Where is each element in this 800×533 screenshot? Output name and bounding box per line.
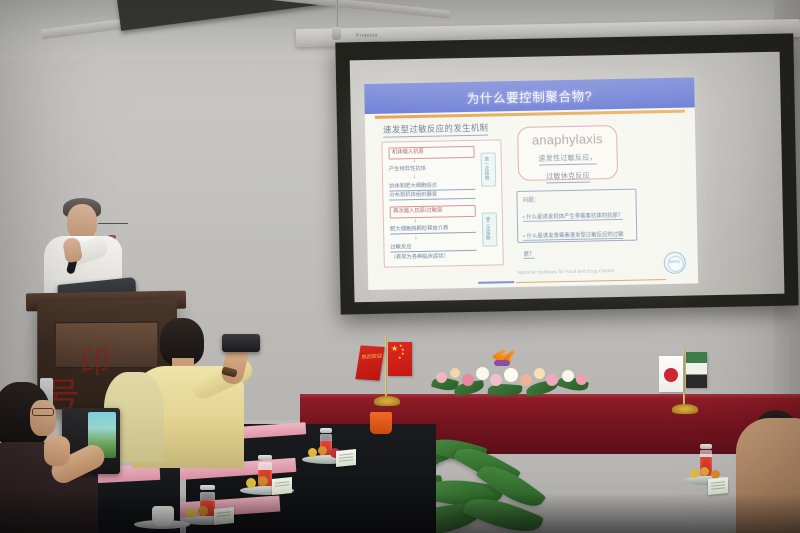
- conference-room-photo: Projecta 为什么要控制聚合物? 速发型过敏反应的发生机制 机体摄入抗原 …: [0, 0, 800, 533]
- flow-node-4: 分布到机体组织器官: [389, 191, 475, 201]
- flow-node-1: 机体摄入抗原: [388, 146, 474, 159]
- flow-node-2: 产生特异性抗体: [389, 165, 475, 174]
- slide-footer-org: National Institutes for Food and Drug Co…: [518, 268, 615, 275]
- slide-title-bar: 为什么要控制聚合物?: [364, 77, 695, 114]
- floral-centerpiece: [430, 352, 600, 404]
- fruit-piece: [246, 478, 256, 488]
- flow-node-7: 过敏反应: [390, 243, 476, 253]
- flow-arrow-2: ↓: [413, 174, 416, 180]
- nifdc-logo-text: NIFDC: [665, 260, 685, 264]
- attendee-left-glasses-icon: [32, 408, 54, 416]
- flow-arrow-1: ↓: [413, 158, 416, 164]
- anaphylaxis-term: anaphylaxis: [518, 131, 616, 148]
- flag-star-large-icon: ★: [391, 345, 398, 353]
- screen-surface: 为什么要控制聚合物? 速发型过敏反应的发生机制 机体摄入抗原 ↓ 产生特异性抗体…: [350, 52, 785, 303]
- slide-title: 为什么要控制聚合物?: [467, 85, 593, 107]
- side-tag-first-contact: 第一次接触: [481, 152, 497, 186]
- anaphylaxis-line-1: 速发性过敏反应，: [538, 152, 597, 165]
- orange-cup: [370, 412, 392, 434]
- chinese-flag-pole: [385, 336, 387, 402]
- anaphylaxis-box: anaphylaxis 速发性过敏反应， 过敏休克反应: [517, 125, 618, 181]
- side-tag-first-contact-label: 第一次接触: [485, 157, 491, 181]
- place-name-card: [336, 449, 356, 467]
- place-name-card: [708, 477, 728, 495]
- juice-bottle-cap: [200, 485, 215, 490]
- attendee-right-foreground: [736, 418, 800, 533]
- attendee-left-face: [30, 400, 56, 436]
- screen-pull-knob[interactable]: [332, 27, 341, 40]
- flow-arrow-4: ↓: [414, 235, 417, 241]
- attendee-left-hand: [44, 436, 70, 466]
- fruit-piece: [318, 446, 327, 455]
- projection-screen: 为什么要控制聚合物? 速发型过敏反应的发生机制 机体摄入抗原 ↓ 产生特异性抗体…: [335, 33, 798, 314]
- speaker-glasses-icon: [98, 223, 128, 229]
- flow-node-8: （表现为各种临床症状）: [391, 253, 477, 262]
- chinese-flag-right: ★ ★ ★ ★ ★: [388, 342, 412, 376]
- international-flag-pole: [683, 348, 685, 410]
- place-name-card: [214, 507, 234, 525]
- juice-bottle-cap: [700, 444, 712, 449]
- speaker-head: [67, 204, 97, 240]
- attendee-with-tablet: [0, 372, 142, 533]
- chinese-flag-left-text: 热烈欢迎: [362, 354, 382, 361]
- housing-brand-label: Projecta: [356, 32, 378, 38]
- question-item-1: • 什么是诱发机体产生青霉素抗体的抗原？: [523, 213, 624, 222]
- juice-bottle-cap: [320, 428, 332, 433]
- presentation-slide: 为什么要控制聚合物? 速发型过敏反应的发生机制 机体摄入抗原 ↓ 产生特异性抗体…: [364, 77, 698, 290]
- question-box: 问题： • 什么是诱发机体产生青霉素抗体的抗原？ • 什么是诱发青霉素速发型过敏…: [516, 189, 637, 243]
- nifdc-logo-icon: NIFDC: [664, 252, 686, 274]
- international-flag-stand: [672, 404, 698, 414]
- mechanism-heading: 速发型过敏反应的发生机制: [383, 122, 489, 138]
- japanese-flag: [659, 356, 683, 392]
- mechanism-flow-box: 机体摄入抗原 ↓ 产生特异性抗体 ↓ 抗体和肥大细胞结合 分布到机体组织器官 再…: [381, 139, 504, 267]
- side-tag-second-contact-label: 第二次接触: [486, 217, 492, 241]
- slide-bottom-rule-orange: [516, 279, 666, 283]
- side-tag-second-contact: 第二次接触: [482, 212, 498, 246]
- fruit-piece: [198, 506, 208, 516]
- question-item-2: • 什么是诱发青霉素速发型过敏反应的过敏原？: [523, 232, 624, 259]
- japanese-flag-disc: [664, 368, 678, 382]
- slide-bottom-rule-blue: [478, 281, 514, 283]
- smartphone-icon: [222, 334, 260, 352]
- fruit-piece: [308, 448, 317, 457]
- fruit-piece: [186, 508, 196, 518]
- fruit-piece: [700, 467, 709, 476]
- fruit-piece: [690, 469, 699, 478]
- anaphylaxis-line-2: 过敏休克反应: [546, 171, 590, 183]
- flow-arrow-3: ↓: [414, 218, 417, 224]
- flow-node-5: 再次摄入抗原/过敏原: [390, 205, 476, 218]
- question-box-title: 问题：: [522, 194, 630, 204]
- third-flag: [686, 352, 707, 388]
- flag-star-small-4-icon: ★: [398, 356, 402, 360]
- bird-of-paradise-icon: [492, 348, 522, 366]
- ceiling-recess: [117, 0, 349, 31]
- chinese-flag-stand: [374, 396, 400, 406]
- teacup: [152, 506, 174, 526]
- slide-body: 速发型过敏反应的发生机制 机体摄入抗原 ↓ 产生特异性抗体 ↓ 抗体和肥大细胞结…: [365, 113, 698, 290]
- place-name-card: [272, 477, 292, 495]
- flow-node-6: 肥大细胞脱颗粒释放介质: [390, 225, 476, 235]
- fruit-piece: [258, 476, 268, 486]
- screen-pull-rod: [336, 0, 338, 30]
